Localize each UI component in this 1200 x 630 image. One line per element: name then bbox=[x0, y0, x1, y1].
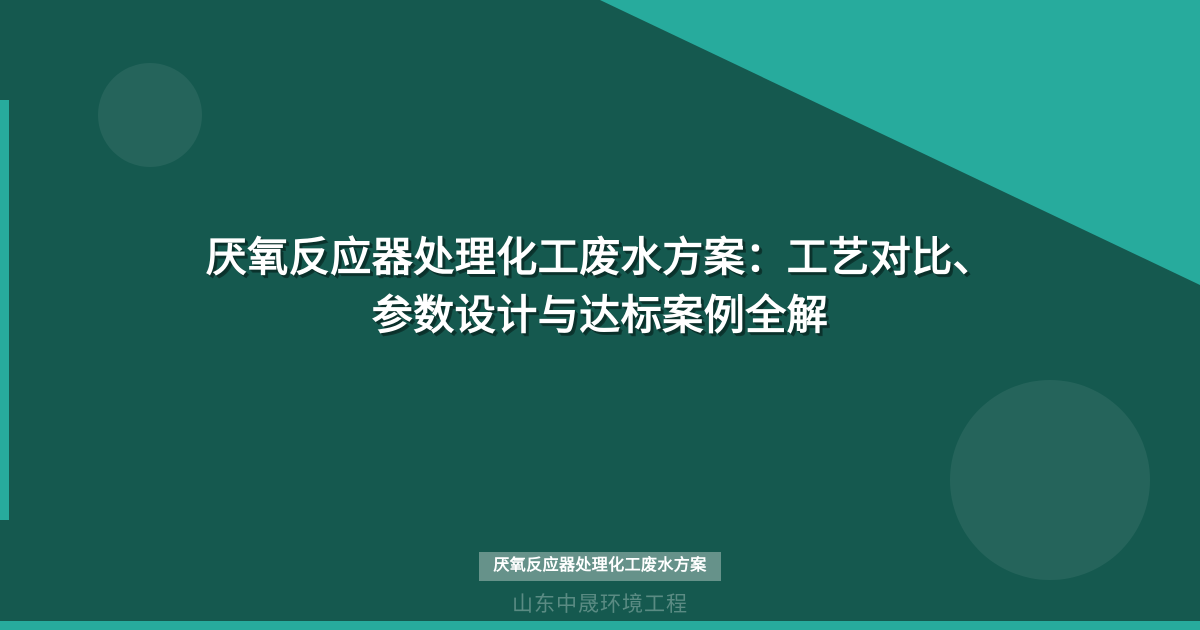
footer-container: 山东中晟环境工程 bbox=[0, 591, 1200, 619]
bottom-accent-bar bbox=[0, 621, 1200, 630]
title-line-1: 厌氧反应器处理化工废水方案：工艺对比、 bbox=[0, 228, 1200, 286]
decorative-circle-bottom-right bbox=[950, 380, 1150, 580]
status-badge: 厌氧反应器处理化工废水方案 bbox=[479, 552, 720, 581]
cover-banner: 厌氧反应器处理化工废水方案：工艺对比、 参数设计与达标案例全解 厌氧反应器处理化… bbox=[0, 0, 1200, 630]
title-line-2: 参数设计与达标案例全解 bbox=[0, 286, 1200, 344]
page-title: 厌氧反应器处理化工废水方案：工艺对比、 参数设计与达标案例全解 bbox=[0, 228, 1200, 344]
watermark-label: 山东中晟环境工程 bbox=[512, 591, 688, 619]
decorative-circle-top-left bbox=[98, 63, 202, 167]
badge-container: 厌氧反应器处理化工废水方案 bbox=[0, 552, 1200, 581]
